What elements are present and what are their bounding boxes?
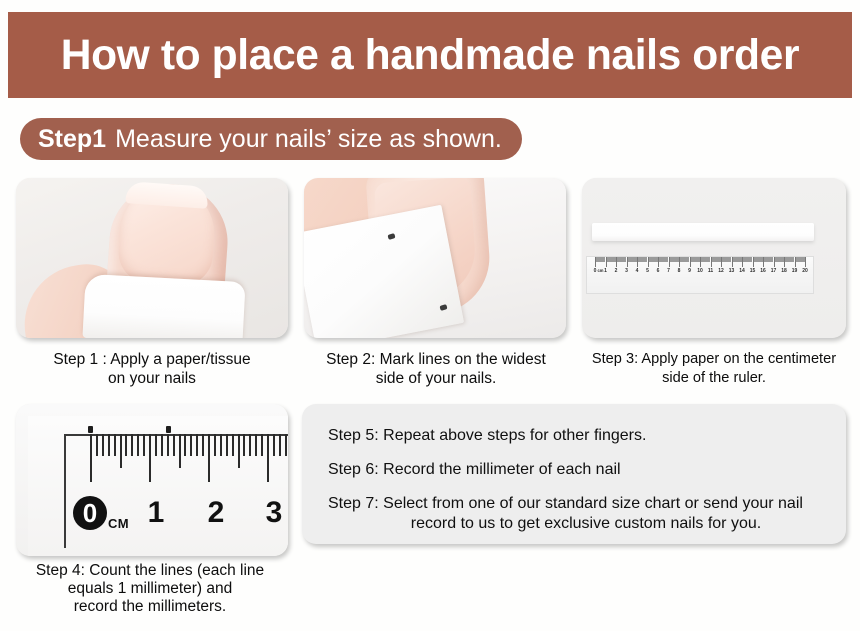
ruler-tick-mm (249, 434, 251, 456)
pencil-mark-right (166, 426, 171, 433)
step1-banner: Step1 Measure your nails’ size as shown. (20, 118, 522, 160)
ruler-tick-mm (202, 434, 204, 456)
ruler-tick-mm (137, 434, 139, 456)
caption-step-3: Step 3: Apply paper on the centimeter si… (574, 350, 854, 388)
caption-line: side of your nails. (300, 369, 572, 388)
caption-line: equals 1 millimeter) and (4, 580, 296, 598)
caption-step-2: Step 2: Mark lines on the widest side of… (300, 350, 572, 388)
caption-line: record the millimeters. (4, 598, 296, 616)
ruler-tick-mm (184, 434, 186, 456)
step1-text: Measure your nails’ size as shown. (115, 125, 502, 154)
ruler-tick-mm (243, 434, 245, 456)
ruler-tick-cm (149, 434, 151, 482)
ruler-number-5: 5 (646, 268, 649, 274)
ruler-number-19: 19 (792, 268, 798, 274)
ruler-label-1: 1 (148, 496, 165, 530)
ruler-number-12: 12 (718, 268, 724, 274)
ruler-tick-mm (179, 434, 181, 468)
photo-card-mark-lines (304, 178, 566, 338)
ruler-label-2: 2 (208, 496, 225, 530)
ruler-tick-mm (131, 434, 133, 456)
ruler-zero-badge: 0 (73, 496, 107, 530)
ruler-number-18: 18 (781, 268, 787, 274)
ruler-tick-mm (108, 434, 110, 456)
step-7-line1: Step 7: Select from one of our standard … (328, 495, 803, 512)
ruler-tick-mm (196, 434, 198, 456)
ruler-number-9: 9 (688, 268, 691, 274)
photo-card-paper-on-ruler: 01cm234567891011121314151617181920 (582, 178, 846, 338)
ruler-number-6: 6 (657, 268, 660, 274)
caption-line: Step 4: Count the lines (each line (4, 562, 296, 580)
photo-card-ruler-closeup: 0 CM 1 2 3 (16, 404, 288, 556)
header-banner: How to place a handmade nails order (8, 12, 852, 98)
ruler-unit-label: cm (597, 268, 603, 273)
ruler-tick-mm (155, 434, 157, 456)
steps-5-7-panel: Step 5: Repeat above steps for other fin… (302, 404, 846, 544)
ruler-label-3: 3 (266, 496, 283, 530)
caption-line: side of the ruler. (574, 369, 854, 388)
ruler-tick-mm (114, 434, 116, 456)
poster-root: How to place a handmade nails order Step… (0, 0, 860, 631)
ruler-tick-mm (190, 434, 192, 456)
ruler-number-4: 4 (636, 268, 639, 274)
ruler-tick-mm (238, 434, 240, 468)
ruler-number-2: 2 (615, 268, 618, 274)
ruler-tick-mm (125, 434, 127, 456)
ruler-tick-marks (16, 434, 288, 484)
ruler-tick-cm (208, 434, 210, 482)
ruler-number-13: 13 (729, 268, 735, 274)
ruler-number-3: 3 (625, 268, 628, 274)
ruler-number-7: 7 (667, 268, 670, 274)
pencil-mark-left (88, 426, 93, 433)
ruler-number-10: 10 (697, 268, 703, 274)
ruler-tick-mm (143, 434, 145, 456)
ruler-tick-mm (96, 434, 98, 456)
ruler-tick-mm (285, 434, 287, 456)
step1-label: Step1 (38, 125, 106, 154)
paper-strip-shape (592, 223, 814, 241)
ruler-tick-cm (805, 257, 806, 267)
ruler-tick-mm (173, 434, 175, 456)
ruler-tick-cm (267, 434, 269, 482)
step-7-text: Step 7: Select from one of our standard … (328, 494, 820, 534)
ruler-number-14: 14 (739, 268, 745, 274)
ruler-number-20: 20 (802, 268, 808, 274)
ruler-tick-mm (220, 434, 222, 456)
ruler-shape: 01cm234567891011121314151617181920 (586, 256, 814, 294)
page-title: How to place a handmade nails order (61, 31, 799, 80)
caption-line: Step 3: Apply paper on the centimeter (574, 350, 854, 369)
ruler-tick-mm (226, 434, 228, 456)
paper-strip-shape (82, 274, 245, 338)
caption-step-4: Step 4: Count the lines (each line equal… (4, 562, 296, 616)
ruler-tick-mm (102, 434, 104, 456)
ruler-tick-mm (161, 434, 163, 456)
ruler-tick-cm (90, 434, 92, 482)
ruler-number-15: 15 (750, 268, 756, 274)
ruler-tick-mm (279, 434, 281, 456)
ruler-tick-mm (214, 434, 216, 456)
ruler-number-labels: 01cm234567891011121314151617181920 (587, 268, 813, 278)
ruler-tick-mm (232, 434, 234, 456)
ruler-number-16: 16 (760, 268, 766, 274)
caption-line: Step 2: Mark lines on the widest (300, 350, 572, 369)
ruler-number-8: 8 (678, 268, 681, 274)
ruler-tick-mm (167, 434, 169, 456)
ruler-tick-mm (273, 434, 275, 456)
ruler-tick-marks (587, 257, 813, 268)
caption-line: Step 1 : Apply a paper/tissue (8, 350, 296, 369)
ruler-tick-mm (120, 434, 122, 468)
step-7-line2: record to us to get exclusive custom nai… (328, 514, 820, 534)
step-6-text: Step 6: Record the millimeter of each na… (328, 460, 820, 480)
ruler-number-0: 0 (594, 268, 597, 274)
ruler-number-17: 17 (771, 268, 777, 274)
caption-step-1: Step 1 : Apply a paper/tissue on your na… (8, 350, 296, 388)
ruler-tick-mm (261, 434, 263, 456)
ruler-tick-mm (255, 434, 257, 456)
step-5-text: Step 5: Repeat above steps for other fin… (328, 426, 820, 446)
ruler-unit-label: CM (108, 516, 129, 531)
photo-card-apply-paper (16, 178, 288, 338)
ruler-number-1: 1 (604, 268, 607, 274)
ruler-number-11: 11 (708, 268, 713, 274)
caption-line: on your nails (8, 369, 296, 388)
